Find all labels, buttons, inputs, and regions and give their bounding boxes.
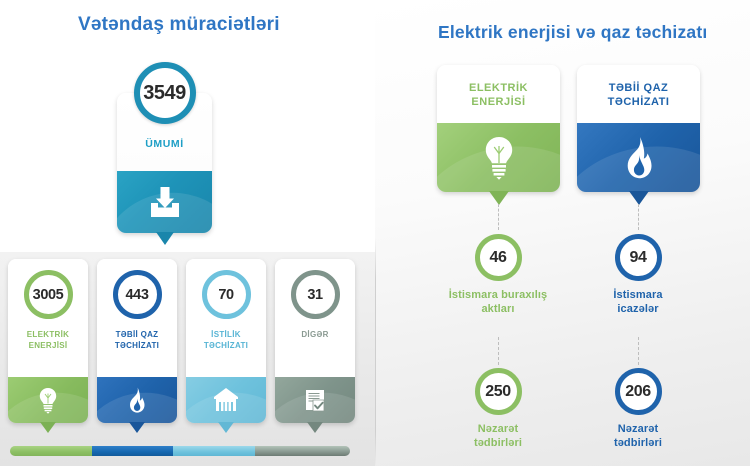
total-card-pointer: [156, 232, 174, 245]
lightbulb-icon: [34, 386, 62, 414]
stat-label-line1: İstismara: [563, 288, 713, 302]
category-progress-bar: [10, 446, 350, 456]
source-title-line1: ELEKTRİK: [441, 81, 556, 95]
right-panel-title: Elektrik enerjisi və qaz təchizatı: [438, 22, 707, 43]
flame-icon: [617, 135, 661, 183]
category-card-gas[interactable]: 443 TƏBİİ QAZ TƏCHİZATI: [97, 259, 177, 423]
card-label: ELEKTRİK ENERJİSİ: [11, 329, 85, 351]
source-card-title: TƏBİİ QAZ TƏCHİZATI: [581, 81, 696, 109]
heating-house-icon: [212, 386, 240, 414]
stat-label-line2: icazələr: [563, 302, 713, 316]
card-label-line1: TƏBİİ QAZ: [100, 329, 174, 340]
stat-value: 206: [625, 383, 651, 401]
total-value-ring: 3549: [134, 62, 196, 124]
card-value-ring: 70: [202, 270, 251, 319]
source-title-line2: TƏCHİZATI: [581, 95, 696, 109]
stat-value: 46: [490, 249, 507, 267]
card-label: TƏBİİ QAZ TƏCHİZATI: [100, 329, 174, 351]
card-label-line1: DİGƏR: [278, 329, 352, 340]
flame-icon: [123, 386, 151, 414]
card-value: 70: [218, 287, 233, 303]
source-card-title: ELEKTRİK ENERJİSİ: [441, 81, 556, 109]
download-icon: [148, 187, 182, 219]
card-pointer: [40, 422, 56, 433]
connector-gas-1: [638, 204, 639, 230]
stat-label: Nəzarət tədbirləri: [563, 422, 713, 450]
card-pointer: [218, 422, 234, 433]
checklist-icon: [301, 386, 329, 414]
stat-label: İstismara buraxılış aktları: [423, 288, 573, 316]
card-label-line2: TƏCHİZATI: [100, 340, 174, 351]
card-label-line2: TƏCHİZATI: [189, 340, 263, 351]
card-label-line1: ELEKTRİK: [11, 329, 85, 340]
stat-label-line1: Nəzarət: [563, 422, 713, 436]
lightbulb-icon: [477, 135, 521, 183]
card-pointer: [129, 422, 145, 433]
card-value: 31: [307, 287, 322, 303]
connector-gas-2: [638, 337, 639, 365]
card-label-line2: ENERJİSİ: [11, 340, 85, 351]
stat-label-line1: Nəzarət: [423, 422, 573, 436]
card-pointer: [307, 422, 323, 433]
total-card[interactable]: 3549 ÜMUMİ: [117, 93, 212, 233]
stat-label-line2: aktları: [423, 302, 573, 316]
stat-label-line1: İstismara buraxılış: [423, 288, 573, 302]
stat-gas-permits[interactable]: 94 İstismara icazələr: [563, 234, 713, 316]
progress-segment-other: [255, 446, 350, 456]
source-card-pointer: [489, 191, 509, 205]
panel-divider: [375, 238, 376, 466]
source-title-line1: TƏBİİ QAZ: [581, 81, 696, 95]
category-card-electricity[interactable]: 3005 ELEKTRİK ENERJİSİ: [8, 259, 88, 423]
source-card-electricity[interactable]: ELEKTRİK ENERJİSİ: [437, 65, 560, 192]
card-value: 443: [126, 287, 149, 303]
stat-label-line2: tədbirləri: [563, 436, 713, 450]
category-card-heating[interactable]: 70 İSTİLİK TƏCHİZATI: [186, 259, 266, 423]
stat-gas-control[interactable]: 206 Nəzarət tədbirləri: [563, 368, 713, 450]
connector-electricity-2: [498, 337, 499, 365]
progress-segment-heating: [173, 446, 255, 456]
stat-electricity-commissioning[interactable]: 46 İstismara buraxılış aktları: [423, 234, 573, 316]
stat-label: Nəzarət tədbirləri: [423, 422, 573, 450]
infographic-root: Vətəndaş müraciətləri 3549 ÜMUMİ 3005 EL…: [0, 0, 750, 466]
category-card-other[interactable]: 31 DİGƏR: [275, 259, 355, 423]
stat-value-ring: 250: [475, 368, 522, 415]
stat-value-ring: 206: [615, 368, 662, 415]
stat-label-line2: tədbirləri: [423, 436, 573, 450]
stat-value-ring: 94: [615, 234, 662, 281]
stat-label: İstismara icazələr: [563, 288, 713, 316]
source-title-line2: ENERJİSİ: [441, 95, 556, 109]
card-value-ring: 443: [113, 270, 162, 319]
card-value-ring: 3005: [24, 270, 73, 319]
progress-segment-electricity: [10, 446, 92, 456]
stat-electricity-control[interactable]: 250 Nəzarət tədbirləri: [423, 368, 573, 450]
card-value: 3005: [33, 287, 64, 303]
card-label: DİGƏR: [278, 329, 352, 340]
stat-value: 94: [630, 249, 647, 267]
card-value-ring: 31: [291, 270, 340, 319]
stat-value: 250: [485, 383, 511, 401]
stat-value-ring: 46: [475, 234, 522, 281]
total-label: ÜMUMİ: [117, 138, 212, 150]
connector-electricity-1: [498, 204, 499, 230]
source-card-pointer: [629, 191, 649, 205]
card-label-line1: İSTİLİK: [189, 329, 263, 340]
card-label: İSTİLİK TƏCHİZATI: [189, 329, 263, 351]
source-card-gas[interactable]: TƏBİİ QAZ TƏCHİZATI: [577, 65, 700, 192]
left-panel-title: Vətəndaş müraciətləri: [78, 14, 280, 36]
progress-segment-gas: [92, 446, 174, 456]
total-value: 3549: [143, 82, 186, 105]
